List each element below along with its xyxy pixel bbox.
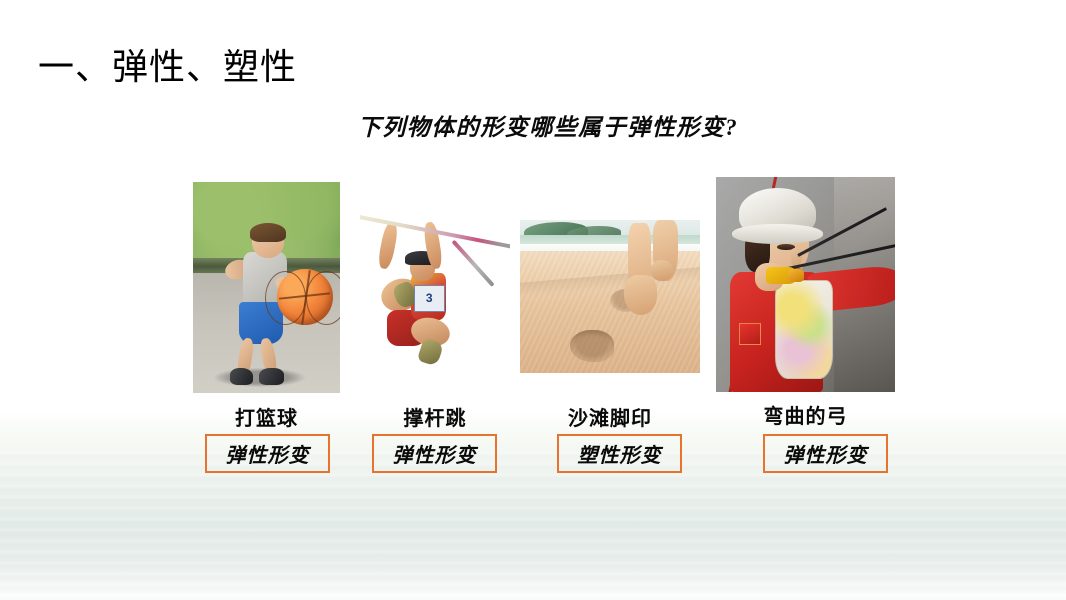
page-title: 一、弹性、塑性 bbox=[38, 38, 297, 90]
vaulter-left-arm bbox=[377, 221, 399, 270]
caption-beach-footprint: 沙滩脚印 bbox=[520, 402, 700, 431]
image-pole-vault[interactable]: 3 bbox=[360, 196, 510, 393]
answer-box-pole-vault[interactable]: 弹性形变 bbox=[372, 434, 497, 473]
caption-basketball: 打篮球 bbox=[193, 402, 340, 431]
vaulter-bib-number: 3 bbox=[414, 285, 445, 313]
bottom-mist-decoration bbox=[0, 410, 1066, 600]
walker-heel bbox=[650, 260, 673, 281]
answer-box-basketball[interactable]: 弹性形变 bbox=[205, 434, 330, 473]
answer-box-archer[interactable]: 弹性形变 bbox=[763, 434, 888, 473]
slide-canvas: 一、弹性、塑性 下列物体的形变哪些属于弹性形变? 3 bbox=[0, 0, 1066, 600]
answer-box-beach-footprint[interactable]: 塑性形变 bbox=[557, 434, 682, 473]
basketball-seam-right bbox=[306, 271, 340, 325]
bow-riser bbox=[788, 269, 804, 282]
archer-hat-brim bbox=[732, 224, 823, 243]
vaulting-pole-tip bbox=[452, 240, 495, 287]
basketball-seam-left bbox=[265, 271, 306, 325]
image-basketball[interactable] bbox=[193, 182, 340, 393]
archer-chest-guard bbox=[775, 280, 832, 379]
archer-flag-patch bbox=[739, 323, 761, 344]
boy-left-shoe bbox=[230, 368, 254, 385]
walker-foot bbox=[624, 275, 656, 315]
boy-hair bbox=[250, 223, 287, 242]
image-beach-footprint[interactable] bbox=[520, 220, 700, 373]
basketball-ball bbox=[277, 269, 333, 326]
image-archer[interactable] bbox=[716, 177, 895, 392]
question-prompt: 下列物体的形变哪些属于弹性形变? bbox=[0, 108, 1066, 142]
caption-pole-vault: 撑杆跳 bbox=[360, 402, 510, 431]
footprint-near bbox=[570, 330, 613, 362]
caption-archer: 弯曲的弓 bbox=[716, 400, 895, 429]
boy-right-shoe bbox=[259, 368, 284, 385]
